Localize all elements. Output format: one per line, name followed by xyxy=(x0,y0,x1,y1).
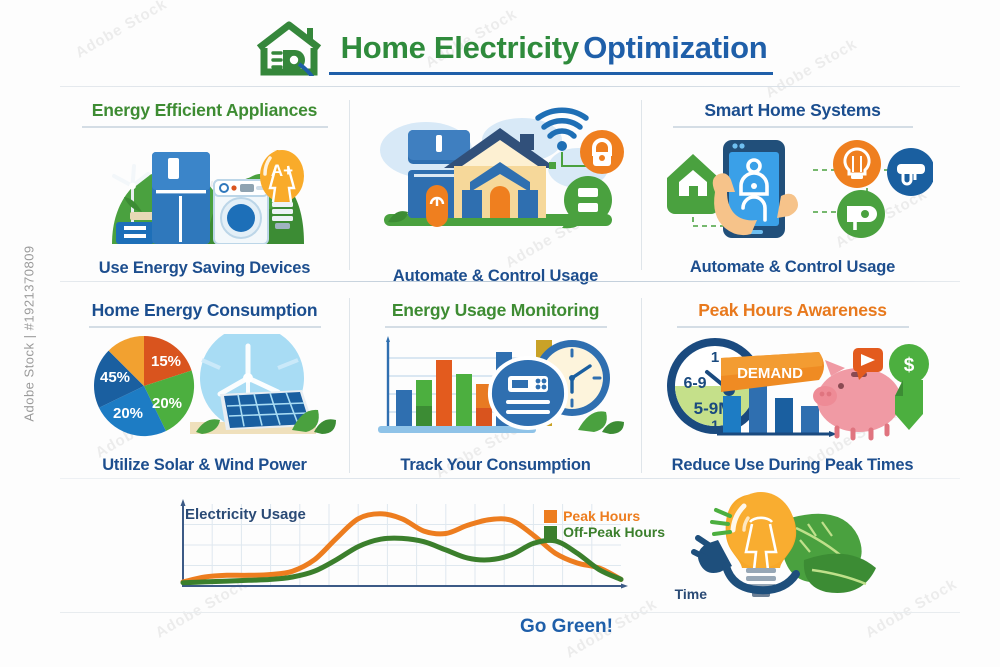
bulb-circle-icon xyxy=(833,140,881,188)
peak-hours-illustration: 1 6-9 5-9M 1 xyxy=(657,334,929,447)
pie-chart-icon: 15% 20% 20% 45% xyxy=(94,336,194,436)
demand-flag-icon: DEMAND xyxy=(721,352,824,392)
spark-icon xyxy=(712,510,730,534)
lock-icon xyxy=(580,130,624,174)
hand-phone-icon xyxy=(712,140,797,238)
divider-top xyxy=(60,86,960,87)
divider-vertical xyxy=(641,100,642,270)
panel-title: Peak Hours Awareness xyxy=(698,300,887,321)
divider-vertical xyxy=(349,298,350,473)
panel-title-underline xyxy=(89,326,321,328)
legend-label-offpeak: Off-Peak Hours xyxy=(563,524,665,540)
panel-caption: Reduce Use During Peak Times xyxy=(672,456,914,475)
legend-swatch-offpeak xyxy=(544,526,557,539)
page-title-secondary: Optimization xyxy=(583,30,767,65)
switch-icon xyxy=(564,176,612,224)
house-plug-icon xyxy=(253,20,329,76)
stock-watermark-left: Adobe Stock | #1921370809 xyxy=(6,0,52,667)
legend-label-peak: Peak Hours xyxy=(563,508,640,524)
divider-vertical xyxy=(641,298,642,473)
panel-caption: Automate & Control Usage xyxy=(393,267,598,286)
page-title-primary: Home Electricity xyxy=(341,30,579,65)
page-header: Home Electricity Optimization xyxy=(60,12,960,84)
pie-label-45: 45% xyxy=(99,369,129,386)
monitoring-illustration xyxy=(366,334,626,447)
chart-legend: Peak Hours Off-Peak Hours xyxy=(544,508,665,540)
security-camera-icon xyxy=(837,190,885,238)
svg-text:A+: A+ xyxy=(270,161,292,180)
washing-machine-icon xyxy=(214,180,268,244)
divider-vertical xyxy=(349,100,350,270)
pie-label-15: 15% xyxy=(150,353,180,370)
legend-item-peak[interactable]: Peak Hours xyxy=(544,508,665,524)
thermostat-icon xyxy=(426,185,448,227)
green-house-icon xyxy=(667,154,719,214)
divider-middle xyxy=(60,281,960,282)
electric-meter-icon xyxy=(487,356,567,430)
panel-caption: Track Your Consumption xyxy=(400,456,590,475)
panel-title: Energy Efficient Appliances xyxy=(92,100,317,121)
go-green-slogan: Go Green! xyxy=(520,616,613,638)
panel-caption: Use Energy Saving Devices xyxy=(99,259,310,278)
panel-energy-efficient-appliances[interactable]: Energy Efficient Appliances xyxy=(60,100,349,278)
panel-smart-home-systems[interactable]: Smart Home Systems xyxy=(645,100,940,277)
panel-title-underline xyxy=(673,126,913,128)
clock-label-top: 1 xyxy=(710,349,718,366)
panel-peak-hours-awareness[interactable]: Peak Hours Awareness 1 6-9 5-9M 1 xyxy=(645,300,940,475)
camera-circle-icon xyxy=(887,148,933,196)
infographic-canvas: Adobe Stock | #1921370809 Adobe Stock Ad… xyxy=(0,0,1000,667)
pie-label-20-green: 20% xyxy=(151,395,181,412)
panel-smart-home-automation[interactable]: Automate & Control Usage xyxy=(352,100,639,286)
divider-footer xyxy=(60,612,960,613)
storage-box-icon xyxy=(116,222,154,244)
renewables-scene xyxy=(190,334,336,434)
appliances-illustration: A+ xyxy=(90,136,320,249)
leaf-icon xyxy=(782,514,876,593)
energy-mix-illustration: 15% 20% 20% 45% xyxy=(70,334,340,447)
smart-house-illustration xyxy=(366,104,626,255)
pie-label-20-blue: 20% xyxy=(112,405,142,422)
title-underline xyxy=(329,72,774,75)
panel-title-underline xyxy=(82,126,328,128)
panel-title-underline xyxy=(677,326,909,328)
smart-systems-illustration xyxy=(653,134,933,249)
refrigerator-icon xyxy=(152,152,210,244)
demand-flag-label: DEMAND xyxy=(737,365,803,382)
legend-swatch-peak xyxy=(544,510,557,523)
clock-label-left: 6-9 xyxy=(683,375,706,392)
chart-y-axis-label: Electricity Usage xyxy=(185,506,306,523)
panel-caption: Automate & Control Usage xyxy=(690,258,895,277)
panel-home-energy-consumption[interactable]: Home Energy Consumption xyxy=(60,300,349,475)
plug-bulb-leaf-illustration xyxy=(686,488,896,613)
svg-text:$: $ xyxy=(903,355,914,376)
panel-title: Energy Usage Monitoring xyxy=(392,300,599,321)
panel-title-underline xyxy=(385,326,607,328)
panel-title: Smart Home Systems xyxy=(704,100,880,121)
panel-energy-usage-monitoring[interactable]: Energy Usage Monitoring xyxy=(352,300,639,475)
panel-title: Home Energy Consumption xyxy=(92,300,318,321)
legend-item-offpeak[interactable]: Off-Peak Hours xyxy=(544,524,665,540)
clock-label-base: 1 xyxy=(711,417,719,433)
divider-bottom xyxy=(60,478,960,479)
panel-caption: Utilize Solar & Wind Power xyxy=(102,456,307,475)
stock-watermark-text: Adobe Stock | #1921370809 xyxy=(22,245,37,421)
electricity-usage-chart[interactable]: Electricity Usage Time Peak Hours Off-Pe… xyxy=(155,498,665,598)
